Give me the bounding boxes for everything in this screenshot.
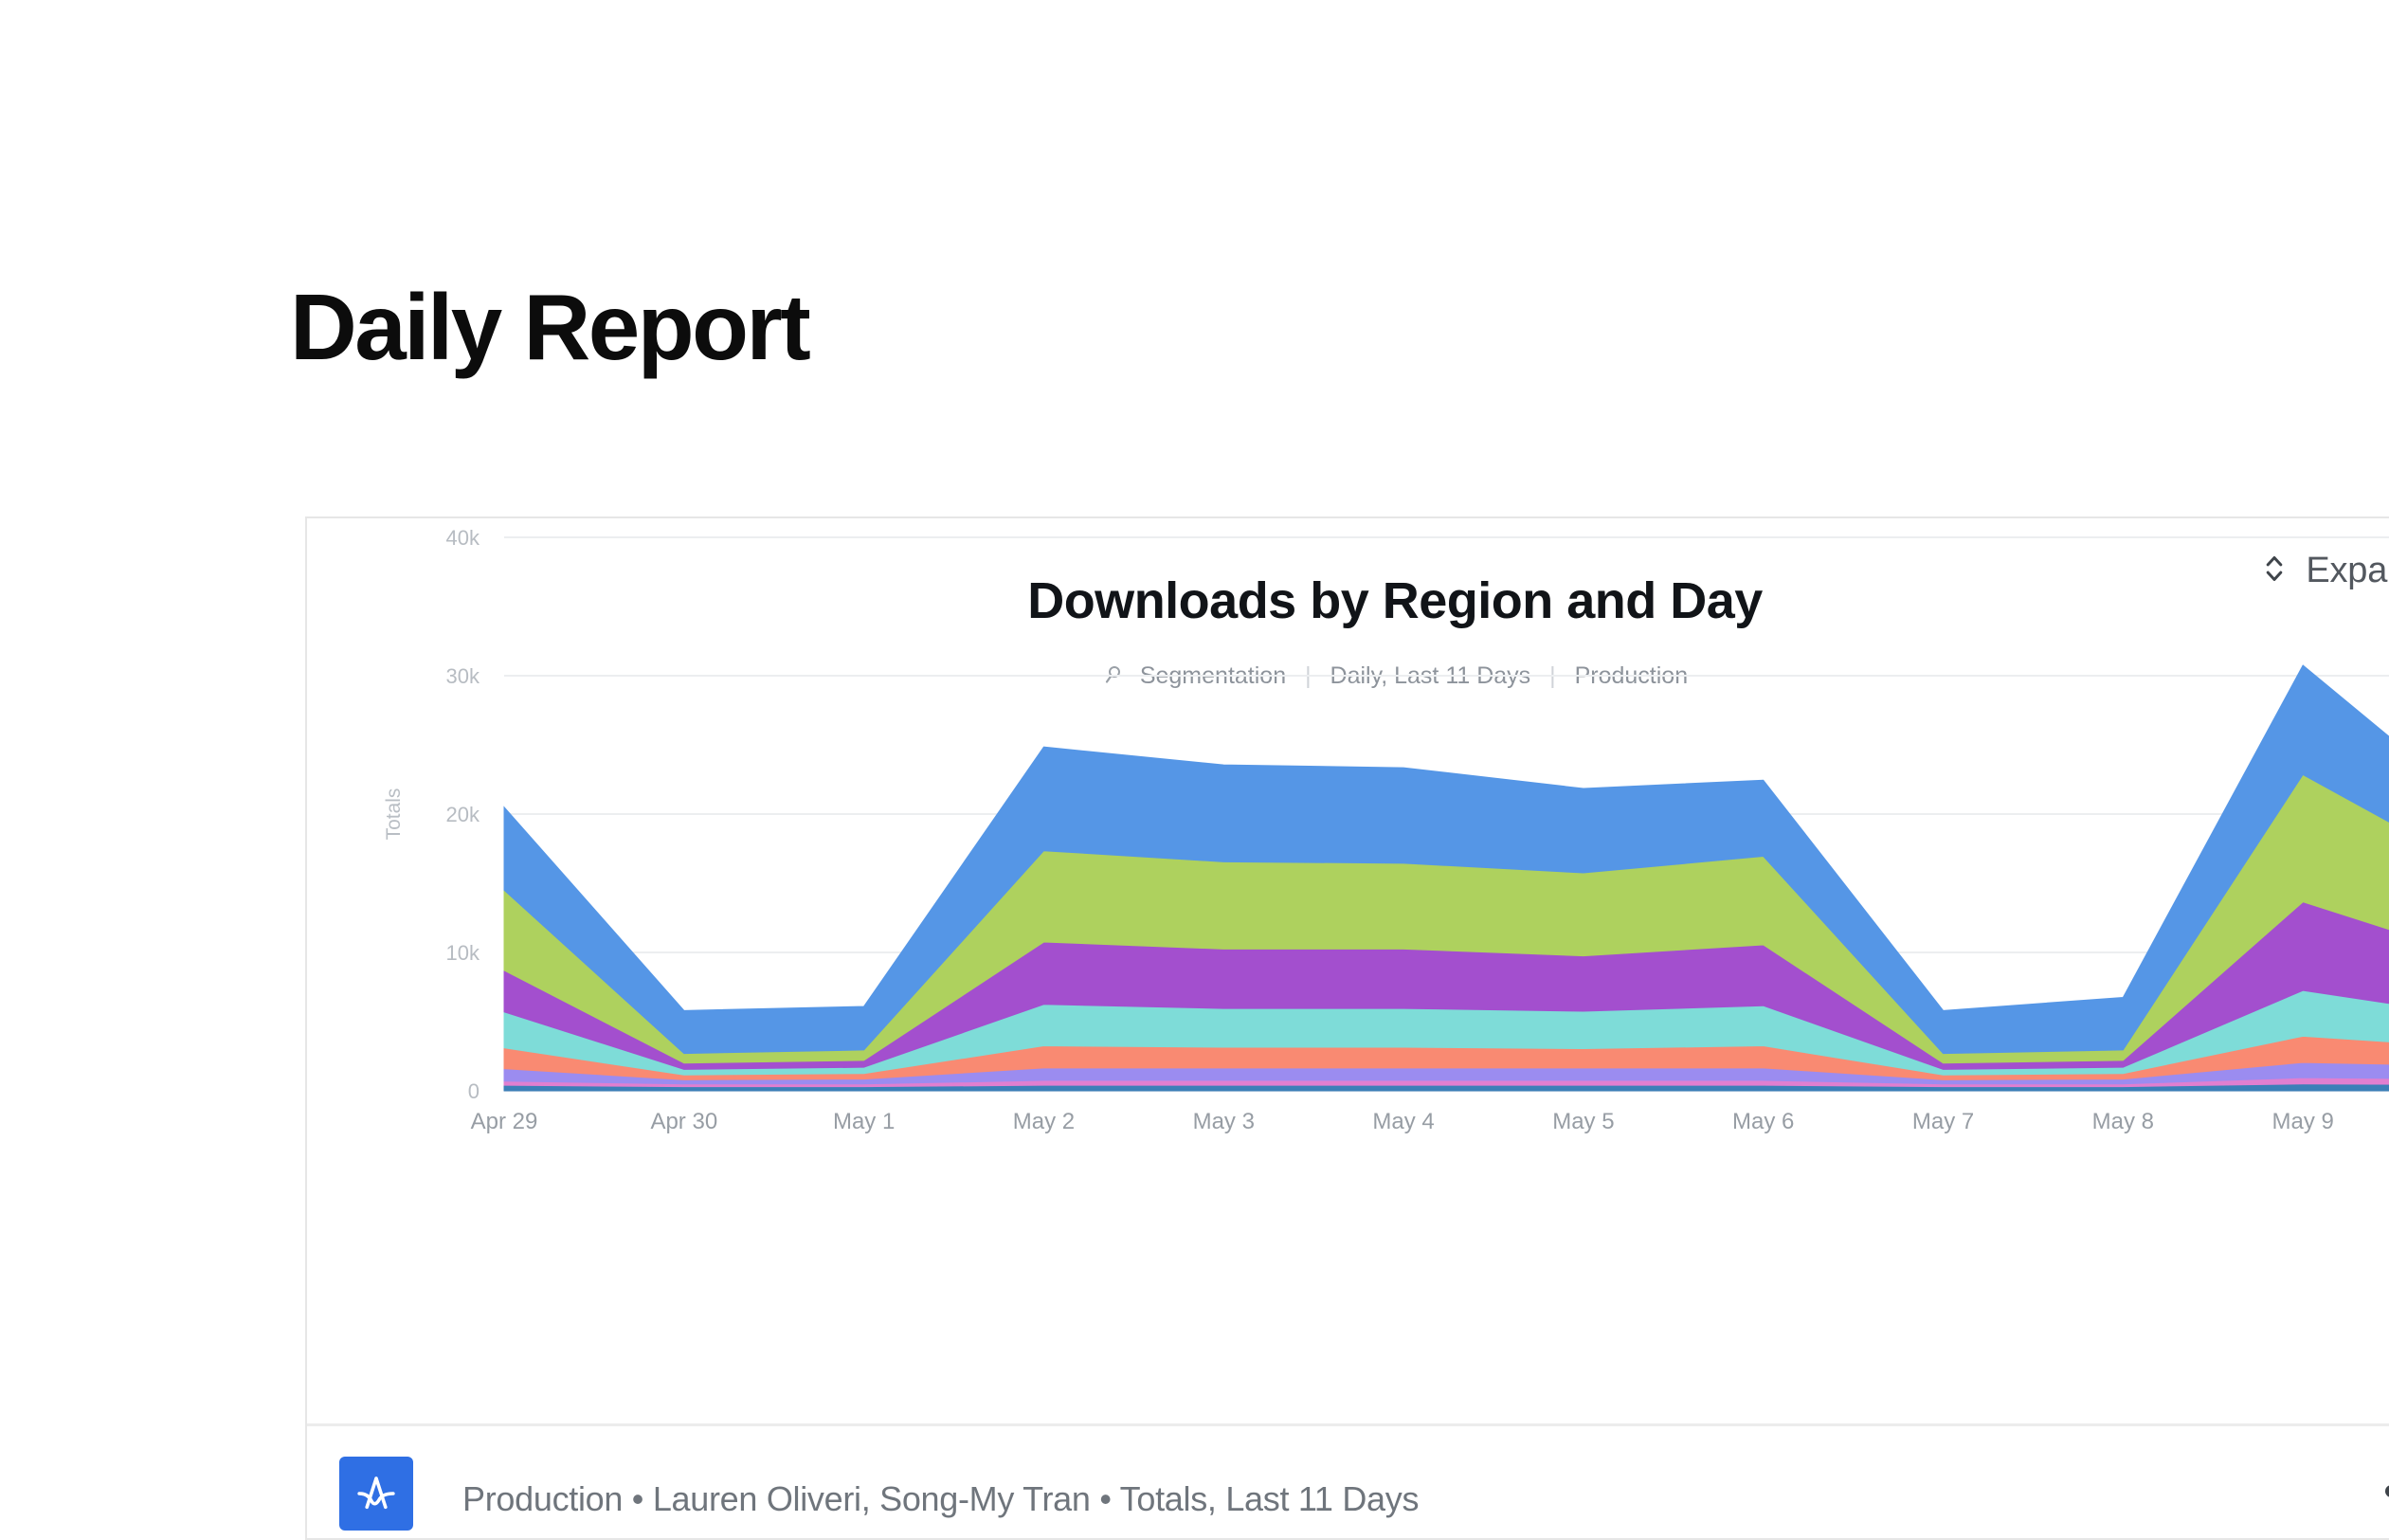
x-tick-label: May 8 [2092, 1109, 2154, 1134]
chart-subtitle: Segmentation | Daily, Last 11 Days | Pro… [307, 662, 2389, 693]
subtitle-type: Segmentation [1140, 662, 1286, 689]
card-footer: Production • Lauren Oliveri, Song-My Tra… [307, 1426, 2389, 1540]
segmentation-icon [1102, 663, 1125, 693]
x-tick-label: May 9 [2272, 1109, 2334, 1134]
area-series [504, 1078, 2389, 1086]
subtitle-separator-2: | [1549, 662, 1556, 689]
chart-title: Downloads by Region and Day [307, 571, 2389, 630]
x-tick-label: May 5 [1552, 1109, 1614, 1134]
x-tick-label: May 7 [1912, 1109, 1974, 1134]
x-tick-label: May 3 [1193, 1109, 1255, 1134]
area-series [504, 774, 2389, 1062]
x-tick-label: May 4 [1372, 1109, 1434, 1134]
area-series [504, 1084, 2389, 1091]
x-tick-label: Apr 29 [471, 1109, 538, 1134]
expand-chevrons-icon [2258, 551, 2290, 591]
y-axis-title: Totals [383, 788, 405, 841]
area-series [504, 1062, 2389, 1084]
x-tick-label: May 6 [1732, 1109, 1794, 1134]
area-series [504, 990, 2389, 1075]
x-tick-label: May 2 [1013, 1109, 1075, 1134]
amplitude-logo-icon [339, 1457, 413, 1531]
footer-description: Production • Lauren Oliveri, Song-My Tra… [462, 1479, 1419, 1519]
report-card: Downloads by Region and Day Segmentation… [305, 516, 2389, 1540]
chart-header: Downloads by Region and Day Segmentation… [307, 518, 2389, 736]
y-tick-label: 0 [468, 1079, 480, 1103]
area-series [504, 1036, 2389, 1079]
subtitle-environment: Production [1575, 662, 1689, 689]
page-title: Daily Report [290, 281, 808, 373]
subtitle-range: Daily, Last 11 Days [1330, 662, 1531, 689]
area-series [504, 902, 2389, 1070]
expand-button[interactable]: Expand [2254, 545, 2389, 597]
more-options-icon[interactable] [2376, 1476, 2389, 1507]
expand-label: Expand [2306, 551, 2389, 591]
x-tick-label: Apr 30 [650, 1109, 717, 1134]
x-axis-ticks: Apr 29Apr 30May 1May 2May 3May 4May 5May… [471, 1109, 2389, 1134]
y-tick-label: 10k [446, 941, 480, 965]
x-tick-label: May 1 [833, 1109, 895, 1134]
subtitle-separator-1: | [1305, 662, 1312, 689]
dot-1 [2385, 1485, 2389, 1497]
y-tick-label: 20k [446, 803, 480, 826]
